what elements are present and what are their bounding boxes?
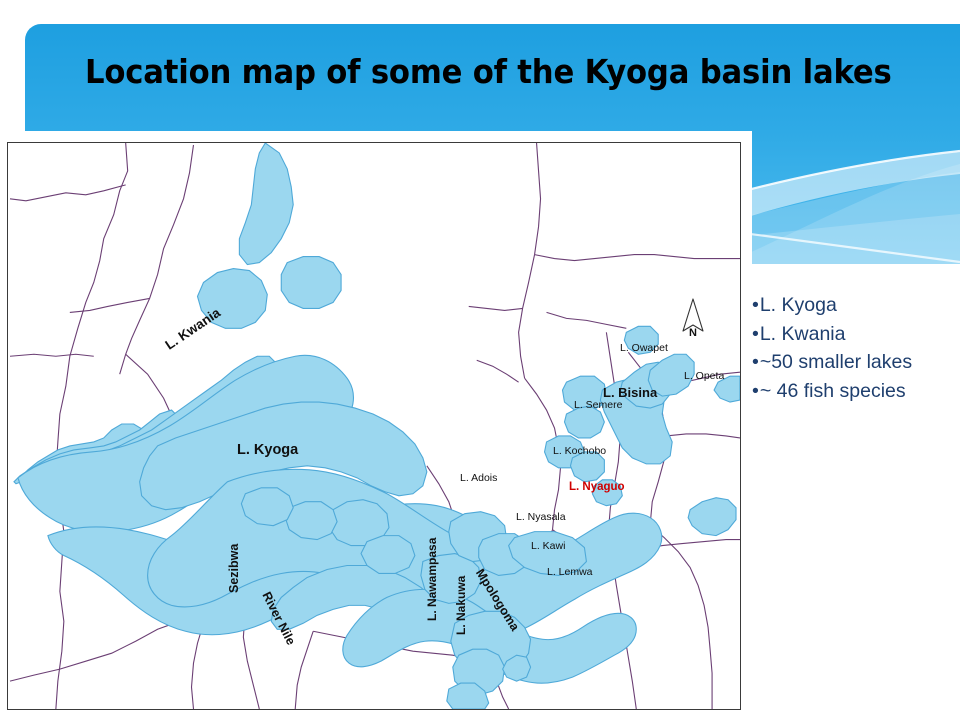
slide-canvas: Location map of some of the Kyoga basin … [0, 0, 960, 720]
list-item-label: L. Kwania [760, 323, 846, 345]
bullet-marker: • [752, 351, 759, 373]
list-item: •~ 46 fish species [752, 377, 960, 406]
list-item-label: ~50 smaller lakes [760, 351, 912, 373]
bullet-marker: • [752, 323, 759, 345]
map-graphic [8, 143, 740, 709]
bullet-marker: • [752, 294, 759, 316]
list-item-label: ~ 46 fish species [760, 380, 906, 402]
list-item: •L. Kyoga [752, 291, 960, 320]
page-title: Location map of some of the Kyoga basin … [85, 54, 885, 90]
list-item-label: L. Kyoga [760, 294, 837, 316]
location-map[interactable]: L. Kwania L. Kyoga L. Owapet L. Opeta L.… [7, 142, 741, 710]
list-item: •~50 smaller lakes [752, 348, 960, 377]
north-arrow: N [676, 291, 710, 343]
list-item: •L. Kwania [752, 320, 960, 349]
bullet-marker: • [752, 380, 759, 402]
north-arrow-label: N [676, 327, 710, 339]
bullet-list: •L. Kyoga •L. Kwania •~50 smaller lakes … [752, 291, 960, 406]
